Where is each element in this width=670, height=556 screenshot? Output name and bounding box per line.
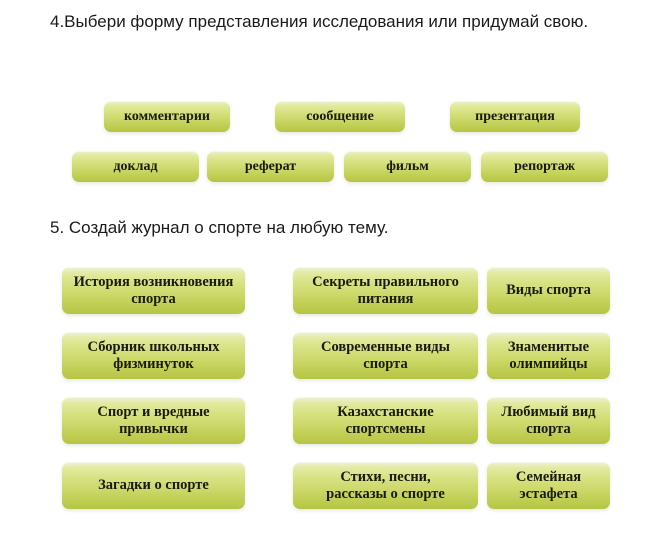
topic-label: Загадки о спорте [98,477,209,494]
topic-label: История возникновения спорта [74,274,234,308]
topic-button-zagadki-o-sporte[interactable]: Загадки о спорте [62,462,245,509]
topic-button-sekrety-pravilnogo-pitaniya[interactable]: Секреты правильного питания [293,267,478,314]
worksheet-page: 4.Выбери форму представления исследовани… [0,0,670,556]
topic-label: Знаменитые олимпийцы [508,339,589,373]
topic-label: Секреты правильного питания [312,274,459,308]
topic-label: Сборник школьных физминуток [88,339,220,373]
option-button-soobshchenie[interactable]: сообщение [275,101,405,132]
topic-label: Любимый вид спорта [501,404,595,438]
topic-label: Казахстанские спортсмены [337,404,433,438]
topic-label: Семейная эстафета [516,469,581,503]
task4-heading: 4.Выбери форму представления исследовани… [50,7,610,37]
topic-label: Стихи, песни, рассказы о спорте [326,469,445,503]
topic-button-sbornik-shkolnykh-fizminutok[interactable]: Сборник школьных физминуток [62,332,245,379]
topic-button-znamenitye-olimpiytsy[interactable]: Знаменитые олимпийцы [487,332,610,379]
topic-label: Спорт и вредные привычки [97,404,209,438]
option-button-kommentarii[interactable]: комментарии [104,101,230,132]
topic-button-istoriya-vozniknoveniya-sporta[interactable]: История возникновения спорта [62,267,245,314]
option-label: реферат [245,159,296,175]
option-button-referat[interactable]: реферат [207,151,334,182]
topic-button-lyubimyy-vid-sporta[interactable]: Любимый вид спорта [487,397,610,444]
topic-button-vidy-sporta[interactable]: Виды спорта [487,267,610,314]
option-button-doklad[interactable]: доклад [72,151,199,182]
topic-button-stikhi-pesni-rasskazy-o-sporte[interactable]: Стихи, песни, рассказы о спорте [293,462,478,509]
topic-label: Современные виды спорта [321,339,450,373]
option-label: фильм [386,159,429,175]
option-button-film[interactable]: фильм [344,151,471,182]
topic-button-kazakhstanskie-sportsmeny[interactable]: Казахстанские спортсмены [293,397,478,444]
topic-button-sport-i-vrednye-privychki[interactable]: Спорт и вредные привычки [62,397,245,444]
option-button-reportazh[interactable]: репортаж [481,151,608,182]
topic-button-semeynaya-estafeta[interactable]: Семейная эстафета [487,462,610,509]
option-label: доклад [113,159,157,175]
option-label: репортаж [514,159,575,175]
option-label: презентация [475,109,555,125]
topic-button-sovremennye-vidy-sporta[interactable]: Современные виды спорта [293,332,478,379]
topic-label: Виды спорта [506,282,591,299]
option-label: сообщение [306,109,374,125]
option-button-prezentatsiya[interactable]: презентация [450,101,580,132]
option-label: комментарии [124,109,210,125]
task5-heading: 5. Создай журнал о спорте на любую тему. [50,213,610,243]
